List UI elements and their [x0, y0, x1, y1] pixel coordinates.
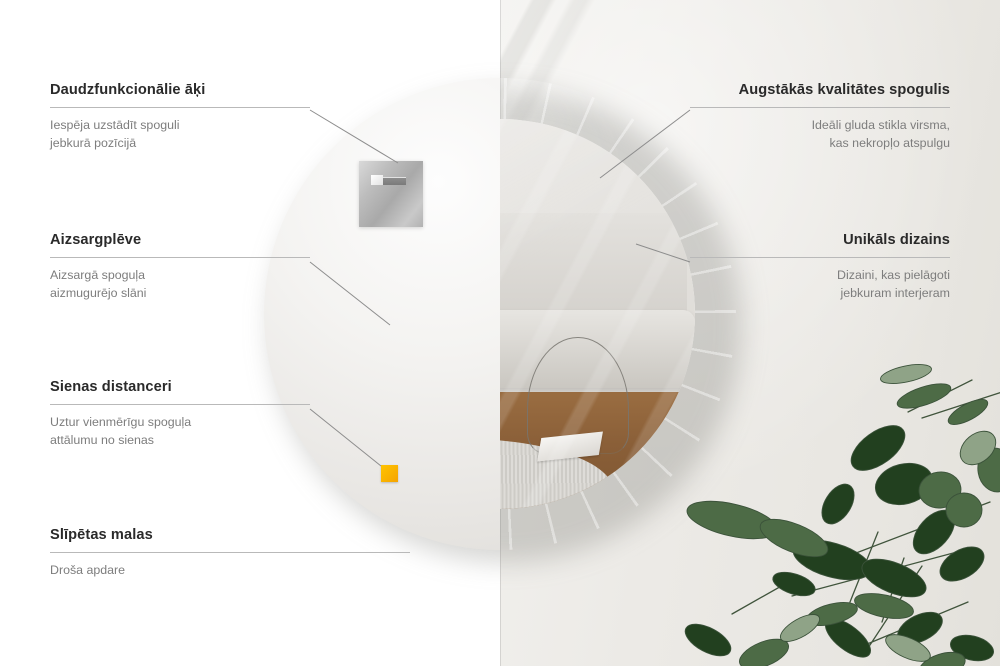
infographic-canvas: Daudzfunkcionālie āķi Iespēja uzstādīt s… — [0, 0, 1000, 666]
feature-top-quality-mirror-title: Augstākās kvalitātes spogulis — [690, 82, 950, 98]
feature-protective-film-title: Aizsargplēve — [50, 232, 310, 248]
feature-polished-edges: Slīpētas malas Droša apdare — [50, 527, 410, 580]
feature-hooks-description: Iespēja uzstādīt spoguli jebkurā pozīcij… — [50, 117, 310, 152]
feature-hooks: Daudzfunkcionālie āķi Iespēja uzstādīt s… — [50, 82, 310, 152]
feature-unique-design: Unikāls dizains Dizaini, kas pielāgoti j… — [690, 232, 950, 302]
feature-wall-spacers: Sienas distanceri Uztur vienmērīgu spogu… — [50, 379, 310, 449]
feature-hooks-title: Daudzfunkcionālie āķi — [50, 82, 310, 98]
feature-wall-spacers-rule — [50, 404, 310, 405]
feature-wall-spacers-description: Uztur vienmērīgu spoguļa attālumu no sie… — [50, 414, 310, 449]
feature-protective-film-rule — [50, 257, 310, 258]
feature-unique-design-title: Unikāls dizains — [690, 232, 950, 248]
product-mirror — [264, 78, 736, 550]
feature-hooks-rule — [50, 107, 310, 108]
feature-unique-design-rule — [690, 257, 950, 258]
hook-slot — [371, 177, 407, 186]
feature-unique-design-description: Dizaini, kas pielāgoti jebkuram interjer… — [690, 267, 950, 302]
feature-top-quality-mirror: Augstākās kvalitātes spogulis Ideāli glu… — [690, 82, 950, 152]
feature-protective-film-description: Aizsargā spoguļa aizmugurējo slāni — [50, 267, 310, 302]
eucalyptus-foliage — [672, 352, 1000, 666]
feature-top-quality-mirror-description: Ideāli gluda stikla virsma, kas nekropļo… — [690, 117, 950, 152]
hook-plate-icon — [359, 161, 423, 227]
feature-wall-spacers-title: Sienas distanceri — [50, 379, 310, 395]
yellow-spacer-icon — [381, 465, 398, 482]
feature-polished-edges-description: Droša apdare — [50, 562, 410, 580]
feature-polished-edges-title: Slīpētas malas — [50, 527, 410, 543]
feature-polished-edges-rule — [50, 552, 410, 553]
feature-top-quality-mirror-rule — [690, 107, 950, 108]
feature-protective-film: Aizsargplēve Aizsargā spoguļa aizmugurēj… — [50, 232, 310, 302]
